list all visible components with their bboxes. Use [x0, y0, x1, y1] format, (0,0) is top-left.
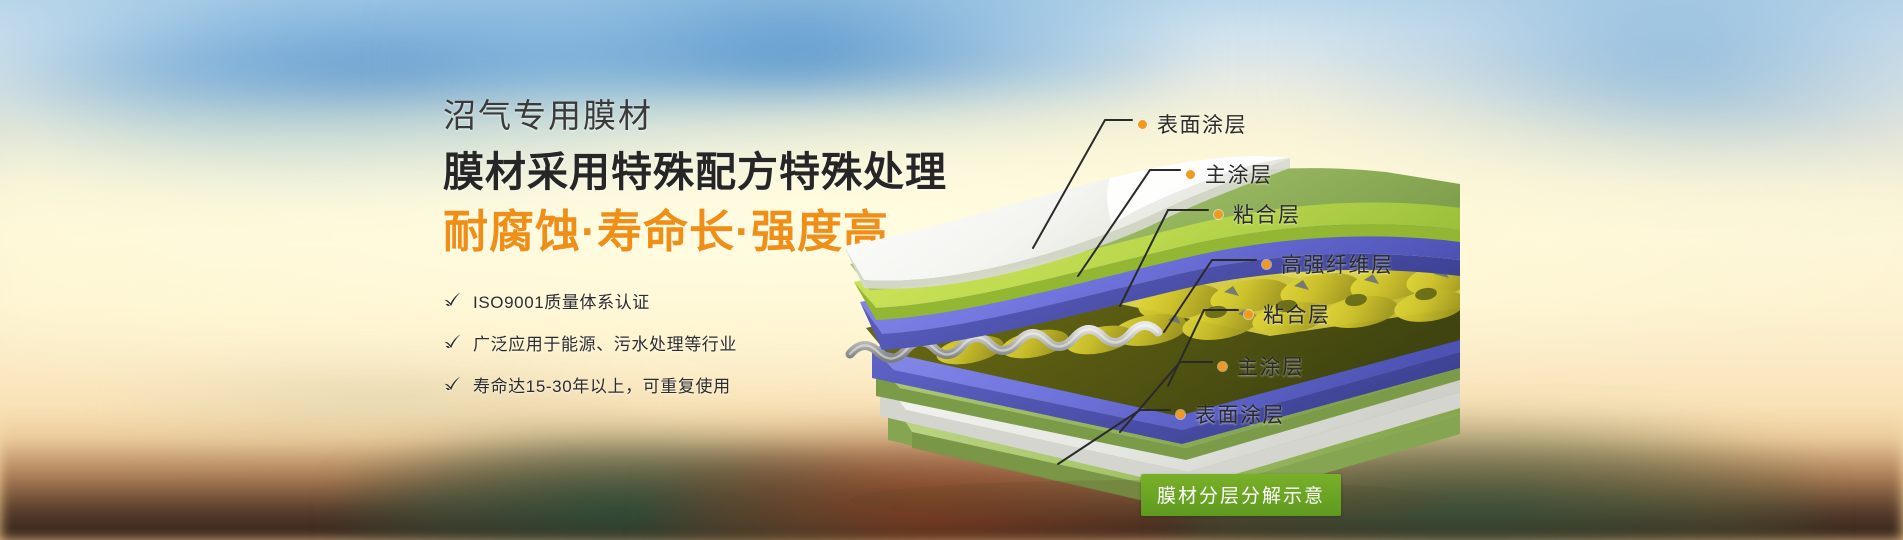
callout-group: 表面涂层 主涂层 粘合层 高强纤维层 粘合层 主涂层 表面涂层	[820, 80, 1903, 540]
callout-dot-icon	[1218, 362, 1227, 371]
check-mark-icon	[443, 375, 462, 394]
callout-label: 主涂层	[1205, 159, 1273, 189]
callout-dot-icon	[1244, 310, 1253, 319]
callout-label: 表面涂层	[1157, 109, 1247, 139]
callout-surface-coating-top: 表面涂层	[1138, 109, 1247, 139]
callout-dot-icon	[1186, 170, 1195, 179]
callout-label: 粘合层	[1263, 299, 1331, 329]
check-mark-icon	[443, 291, 462, 310]
callout-dot-icon	[1176, 410, 1185, 419]
callout-bonding-layer-top: 粘合层	[1214, 199, 1301, 229]
callout-dot-icon	[1138, 120, 1147, 129]
membrane-product-banner: 沼气专用膜材 膜材采用特殊配方特殊处理 耐腐蚀·寿命长·强度高 ISO9001质…	[0, 0, 1903, 540]
callout-label: 粘合层	[1233, 199, 1301, 229]
callout-main-coating-top: 主涂层	[1186, 159, 1273, 189]
callout-bonding-layer-bottom: 粘合层	[1244, 299, 1331, 329]
status-badge: 膜材分层分解示意	[1141, 474, 1341, 516]
callout-leader-lines	[820, 80, 1903, 540]
callout-label: 主涂层	[1237, 351, 1305, 381]
callout-high-strength-fibre: 高强纤维层	[1262, 249, 1394, 279]
callout-label: 高强纤维层	[1281, 249, 1394, 279]
callout-dot-icon	[1262, 260, 1271, 269]
feature-label: 寿命达15-30年以上，可重复使用	[473, 372, 731, 397]
check-mark-icon	[443, 333, 462, 352]
callout-dot-icon	[1214, 210, 1223, 219]
feature-label: 广泛应用于能源、污水处理等行业	[473, 330, 737, 355]
feature-label: ISO9001质量体系认证	[473, 288, 650, 313]
callout-label: 表面涂层	[1195, 399, 1285, 429]
callout-surface-coating-bottom: 表面涂层	[1176, 399, 1285, 429]
callout-main-coating-bottom: 主涂层	[1218, 351, 1305, 381]
